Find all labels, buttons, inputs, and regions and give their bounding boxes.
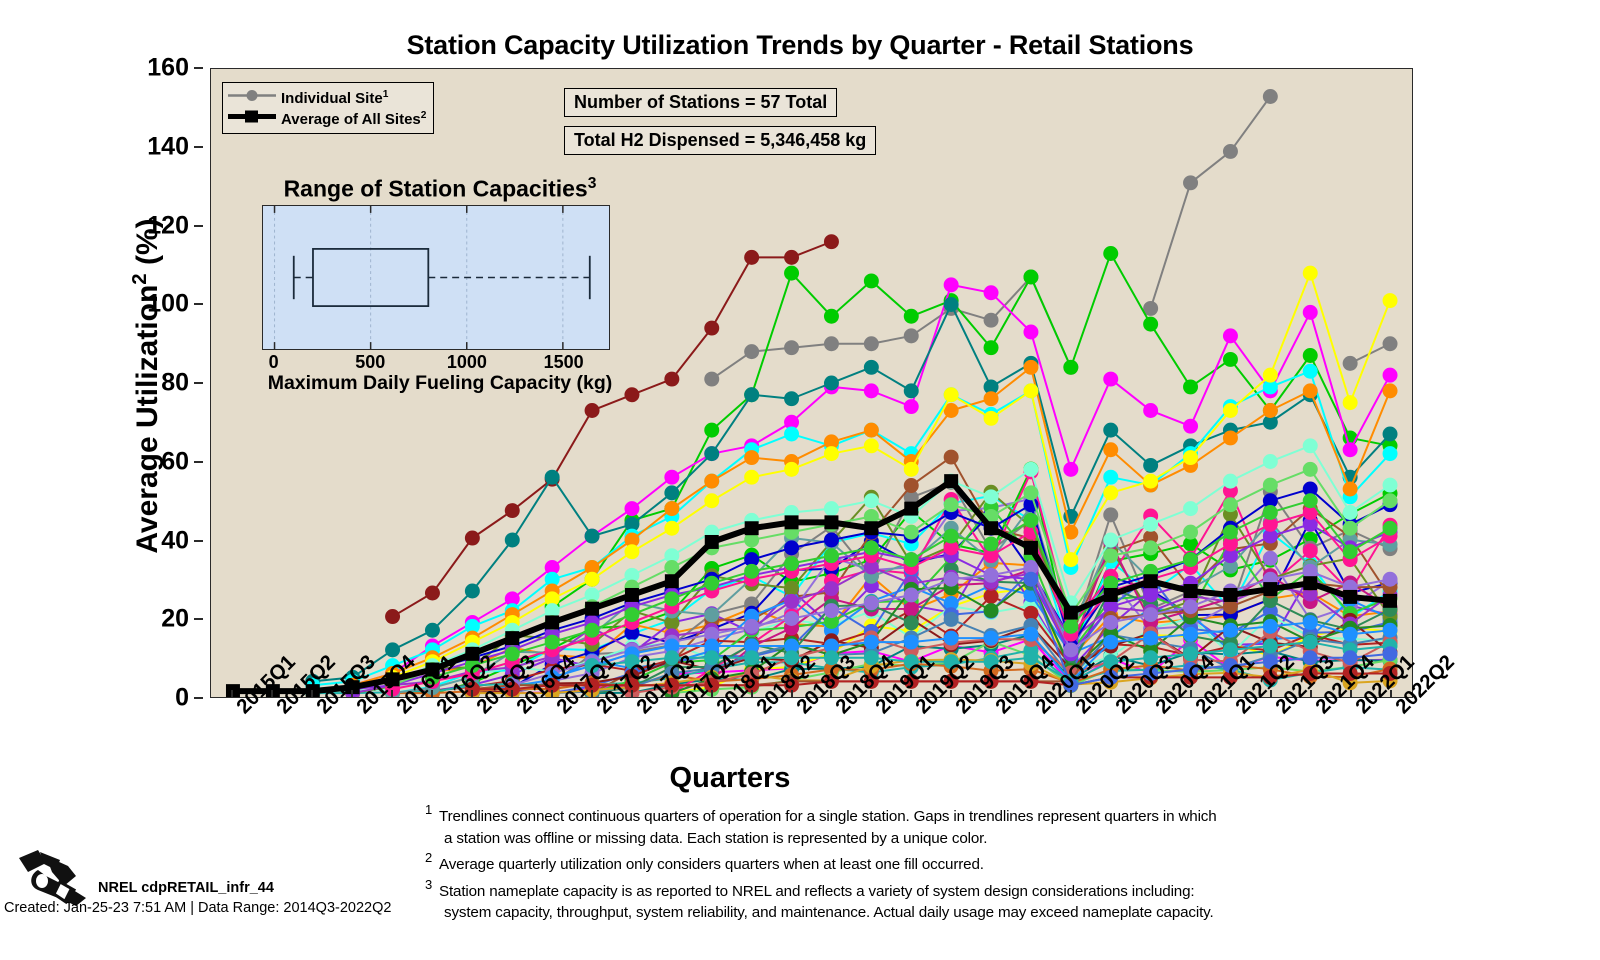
data-point [1064, 606, 1078, 620]
data-point [784, 462, 799, 477]
legend-label-average-all-sites: Average of All Sites2 [281, 110, 426, 128]
legend-swatch-circle-icon [228, 90, 276, 106]
data-point [864, 438, 879, 453]
data-point [864, 383, 879, 398]
data-point [944, 450, 959, 465]
data-point [984, 631, 999, 646]
data-point [705, 535, 719, 549]
data-point [625, 588, 639, 602]
x-axis-tick-mark [711, 690, 713, 698]
data-point [1223, 623, 1238, 638]
inset-boxplot-area [262, 205, 610, 350]
data-point [1183, 419, 1198, 434]
nrel-chart-id: NREL cdpRETAIL_infr_44 [98, 880, 274, 896]
footnote-line: Average quarterly utilization only consi… [439, 854, 1305, 876]
data-point [744, 619, 759, 634]
data-point [1103, 442, 1118, 457]
x-axis-tick-mark [950, 690, 952, 698]
footnote-marker: 2 [425, 850, 432, 865]
y-axis-tick-label: 100 [147, 290, 189, 319]
data-point [944, 474, 958, 488]
data-point [904, 525, 919, 540]
data-point [984, 568, 999, 583]
data-point [1383, 572, 1398, 587]
footnote-marker: 3 [425, 877, 432, 892]
data-point [1143, 474, 1158, 489]
data-point [465, 531, 480, 546]
data-point [624, 607, 639, 622]
data-point [704, 607, 719, 622]
data-point [1023, 627, 1038, 642]
data-point [664, 501, 679, 516]
data-point [704, 474, 719, 489]
data-point [944, 277, 959, 292]
data-point [1223, 403, 1238, 418]
inset-x-tick-label: 1000 [447, 352, 487, 373]
x-axis-tick-mark [751, 690, 753, 698]
data-point [665, 574, 679, 588]
data-point [1143, 631, 1158, 646]
data-point [824, 548, 839, 563]
y-axis-tick-label: 20 [161, 605, 189, 634]
data-point [1143, 607, 1158, 622]
data-point [664, 591, 679, 606]
footnote-marker: 1 [425, 802, 432, 817]
data-point [1263, 89, 1278, 104]
data-point [704, 576, 719, 591]
footnote: 1Trendlines connect continuous quarters … [425, 806, 1305, 849]
y-axis-tick-mark [194, 382, 203, 384]
data-point [1223, 525, 1238, 540]
data-point [1223, 352, 1238, 367]
data-point [1183, 450, 1198, 465]
x-axis-tick-mark [791, 690, 793, 698]
data-point [744, 250, 759, 265]
data-point [904, 328, 919, 343]
data-point [1183, 379, 1198, 394]
data-point [1103, 548, 1118, 563]
data-point [904, 383, 919, 398]
data-point [1144, 574, 1158, 588]
chart-legend: Individual Site1 Average of All Sites2 [222, 82, 434, 134]
data-point [904, 502, 918, 516]
data-point [1183, 501, 1198, 516]
x-axis-tick-mark [591, 690, 593, 698]
data-point [1143, 587, 1158, 602]
data-point [1303, 462, 1318, 477]
data-point [1223, 588, 1237, 602]
data-point [704, 493, 719, 508]
data-point [1303, 305, 1318, 320]
data-point [1023, 572, 1038, 587]
x-axis-tick-mark [1310, 690, 1312, 698]
data-point [1143, 317, 1158, 332]
inset-x-tick-label: 500 [355, 352, 385, 373]
footnotes: 1Trendlines connect continuous quarters … [425, 806, 1305, 929]
y-axis-tick-label: 40 [161, 526, 189, 555]
data-point [624, 501, 639, 516]
data-point [1023, 462, 1038, 477]
data-point [784, 427, 799, 442]
data-point [944, 631, 959, 646]
data-point [984, 603, 999, 618]
y-axis-tick-mark [194, 225, 203, 227]
data-point [784, 594, 799, 609]
data-point [664, 485, 679, 500]
y-axis-tick-label: 0 [175, 684, 189, 713]
data-point [984, 489, 999, 504]
data-point [1063, 360, 1078, 375]
data-point [1303, 266, 1318, 281]
data-point [1263, 403, 1278, 418]
inset-x-axis-title: Maximum Daily Fueling Capacity (kg) [240, 372, 640, 395]
x-axis-tick-mark [471, 690, 473, 698]
data-point [864, 521, 878, 535]
data-point [784, 391, 799, 406]
data-point [784, 581, 799, 596]
data-point [1383, 493, 1398, 508]
x-axis-tick-mark [511, 690, 513, 698]
data-point [664, 521, 679, 536]
data-point [704, 372, 719, 387]
data-point [1303, 348, 1318, 363]
legend-item-individual-site: Individual Site1 [228, 87, 426, 108]
x-axis-tick-mark [671, 690, 673, 698]
data-point [505, 503, 520, 518]
data-point [984, 313, 999, 328]
footnote-line: Trendlines connect continuous quarters o… [439, 806, 1305, 828]
data-point [744, 450, 759, 465]
data-point [1183, 599, 1198, 614]
data-point [1143, 517, 1158, 532]
data-point [944, 612, 959, 627]
data-point [1023, 360, 1038, 375]
y-axis-tick-mark [194, 618, 203, 620]
x-axis-tick-mark [351, 690, 353, 698]
x-axis-tick-mark [1070, 690, 1072, 698]
data-point [1303, 383, 1318, 398]
data-point [1343, 505, 1358, 520]
data-point [944, 529, 959, 544]
y-axis-tick-mark [194, 303, 203, 305]
legend-item-average-all-sites: Average of All Sites2 [228, 108, 426, 129]
footnote: 3Station nameplate capacity is as report… [425, 881, 1305, 924]
data-point [864, 595, 879, 610]
created-timestamp: Created: Jan-25-23 7:51 AM | Data Range:… [4, 900, 391, 916]
x-axis-tick-mark [830, 690, 832, 698]
y-axis-tick-mark [194, 540, 203, 542]
data-point [1383, 521, 1398, 536]
data-point [545, 615, 559, 629]
data-point [1023, 383, 1038, 398]
data-point [545, 470, 560, 485]
x-axis-tick-mark [990, 690, 992, 698]
data-point [1263, 368, 1278, 383]
data-point [1383, 336, 1398, 351]
stat-number-of-stations: Number of Stations = 57 Total [564, 88, 837, 117]
data-point [904, 478, 919, 493]
data-point [1024, 541, 1038, 555]
data-point [744, 387, 759, 402]
data-point [704, 321, 719, 336]
data-point [585, 403, 600, 418]
data-point [1383, 293, 1398, 308]
x-axis-tick-mark [1270, 690, 1272, 698]
data-point [1263, 505, 1278, 520]
data-point [785, 515, 799, 529]
stat-total-h2-dispensed: Total H2 Dispensed = 5,346,458 kg [564, 126, 876, 155]
data-point [904, 615, 919, 630]
data-point [1343, 481, 1358, 496]
y-axis: Average Utilization2 (%) 020406080100120… [95, 68, 203, 698]
y-axis-tick-mark [194, 146, 203, 148]
data-point [1103, 470, 1118, 485]
data-point [1023, 513, 1038, 528]
y-axis-tick-mark [194, 461, 203, 463]
data-point [824, 603, 839, 618]
x-axis-tick-mark [1110, 690, 1112, 698]
y-axis-tick-label: 60 [161, 447, 189, 476]
footnote-line: a station was offline or missing data. E… [439, 828, 1305, 850]
data-point [744, 344, 759, 359]
data-point [1183, 525, 1198, 540]
fuel-nozzle-icon [16, 846, 102, 908]
data-point [864, 493, 879, 508]
data-point [1383, 623, 1398, 638]
data-point [904, 462, 919, 477]
data-point [1343, 356, 1358, 371]
data-point [1343, 590, 1357, 604]
data-point [1383, 446, 1398, 461]
data-point [1303, 543, 1318, 558]
x-axis-title: Quarters [420, 762, 1040, 795]
data-point [824, 336, 839, 351]
data-point [944, 297, 959, 312]
data-point [744, 470, 759, 485]
data-point [1023, 270, 1038, 285]
data-point [1103, 507, 1118, 522]
data-point [944, 497, 959, 512]
data-point [784, 250, 799, 265]
data-point [1103, 423, 1118, 438]
data-point [1143, 403, 1158, 418]
data-point [1303, 615, 1318, 630]
data-point [1263, 551, 1278, 566]
x-axis-tick-mark [1390, 690, 1392, 698]
data-point [984, 521, 998, 535]
data-point [585, 529, 600, 544]
x-axis-tick-mark [431, 690, 433, 698]
data-point [1143, 458, 1158, 473]
x-axis-tick-mark [870, 690, 872, 698]
data-point [465, 584, 480, 599]
data-point [824, 533, 839, 548]
data-point [624, 544, 639, 559]
legend-swatch-square-icon [228, 111, 276, 127]
data-point [1263, 582, 1277, 596]
data-point [505, 631, 519, 645]
data-point [1023, 324, 1038, 339]
x-axis-tick-mark [1030, 690, 1032, 698]
data-point [784, 556, 799, 571]
data-point [1383, 594, 1397, 608]
footnote-line: system capacity, throughput, system reli… [439, 902, 1305, 924]
data-point [425, 586, 440, 601]
data-point [1183, 552, 1198, 567]
data-point [1223, 642, 1238, 657]
data-point [1223, 328, 1238, 343]
data-point [864, 336, 879, 351]
inset-title: Range of Station Capacities3 [240, 175, 640, 203]
data-point [1383, 427, 1398, 442]
footnote: 2Average quarterly utilization only cons… [425, 854, 1305, 876]
page-title: Station Capacity Utilization Trends by Q… [0, 30, 1600, 61]
x-axis-tick-mark [271, 690, 273, 698]
inset-boxplot-svg [263, 206, 609, 349]
data-point [1183, 627, 1198, 642]
data-point [1104, 588, 1118, 602]
data-point [1383, 368, 1398, 383]
data-point [864, 360, 879, 375]
data-point [864, 540, 879, 555]
data-point [904, 309, 919, 324]
data-point [1143, 540, 1158, 555]
data-point [664, 372, 679, 387]
data-point [864, 273, 879, 288]
data-point [1343, 442, 1358, 457]
x-axis-tick-mark [631, 690, 633, 698]
data-point [1303, 576, 1317, 590]
data-point [1263, 454, 1278, 469]
data-point [744, 564, 759, 579]
data-point [824, 446, 839, 461]
data-point [904, 399, 919, 414]
data-point [1103, 635, 1118, 650]
data-point [824, 234, 839, 249]
legend-label-individual-site: Individual Site1 [281, 89, 388, 107]
data-point [904, 635, 919, 650]
data-point [1223, 430, 1238, 445]
data-point [664, 470, 679, 485]
data-point [1023, 485, 1038, 500]
data-point [1103, 533, 1118, 548]
x-axis-tick-mark [551, 690, 553, 698]
data-point [824, 581, 839, 596]
data-point [944, 572, 959, 587]
data-point [824, 501, 839, 516]
data-point [1223, 474, 1238, 489]
data-point [1063, 619, 1078, 634]
y-axis-tick-label: 120 [147, 211, 189, 240]
data-point [745, 521, 759, 535]
data-point [1343, 395, 1358, 410]
data-point [1303, 364, 1318, 379]
data-point [1263, 619, 1278, 634]
data-point [784, 340, 799, 355]
data-point [1343, 627, 1358, 642]
data-point [545, 635, 560, 650]
data-point [1184, 584, 1198, 598]
inset-x-tick-label: 1500 [544, 352, 584, 373]
data-point [984, 589, 999, 604]
data-point [1303, 438, 1318, 453]
data-point [944, 387, 959, 402]
data-point [904, 587, 919, 602]
data-point [585, 623, 600, 638]
x-axis-tick-mark [391, 690, 393, 698]
data-point [505, 533, 520, 548]
data-point [1103, 615, 1118, 630]
data-point [1383, 383, 1398, 398]
data-point [984, 340, 999, 355]
data-point [1303, 635, 1318, 650]
data-point [904, 552, 919, 567]
data-point [1223, 144, 1238, 159]
data-point [984, 391, 999, 406]
x-axis-tick-mark [1230, 690, 1232, 698]
data-point [824, 376, 839, 391]
data-point [1103, 372, 1118, 387]
data-point [824, 515, 838, 529]
data-point [784, 611, 799, 626]
data-point [1223, 497, 1238, 512]
data-point [824, 309, 839, 324]
data-point [704, 446, 719, 461]
data-point [1263, 638, 1278, 653]
data-point [984, 536, 999, 551]
x-axis-tick-mark [1190, 690, 1192, 698]
data-point [385, 609, 400, 624]
inset-x-tick-label: 0 [269, 352, 279, 373]
data-point [864, 635, 879, 650]
y-axis-tick-label: 140 [147, 132, 189, 161]
x-axis-tick-mark [1350, 690, 1352, 698]
data-point [1103, 246, 1118, 261]
data-point [864, 423, 879, 438]
y-axis-tick-mark [194, 697, 203, 699]
data-point [984, 285, 999, 300]
data-point [1063, 462, 1078, 477]
data-point [784, 540, 799, 555]
data-point [704, 423, 719, 438]
data-point [1183, 175, 1198, 190]
data-point [1383, 478, 1398, 493]
data-point [784, 266, 799, 281]
data-point [1263, 478, 1278, 493]
y-axis-tick-mark [194, 67, 203, 69]
footnote-line: Station nameplate capacity is as reporte… [439, 881, 1305, 903]
data-point [1343, 521, 1358, 536]
x-axis-tick-mark [231, 690, 233, 698]
y-axis-tick-label: 160 [147, 54, 189, 83]
x-axis-tick-mark [311, 690, 313, 698]
data-point [984, 411, 999, 426]
x-axis-tick-mark [1150, 690, 1152, 698]
data-point [1063, 552, 1078, 567]
data-point [585, 602, 599, 616]
data-point [1303, 493, 1318, 508]
data-point [1103, 485, 1118, 500]
data-point [425, 623, 440, 638]
data-point [585, 572, 600, 587]
x-axis-tick-mark [910, 690, 912, 698]
data-point [1343, 544, 1358, 559]
y-axis-tick-label: 80 [161, 369, 189, 398]
